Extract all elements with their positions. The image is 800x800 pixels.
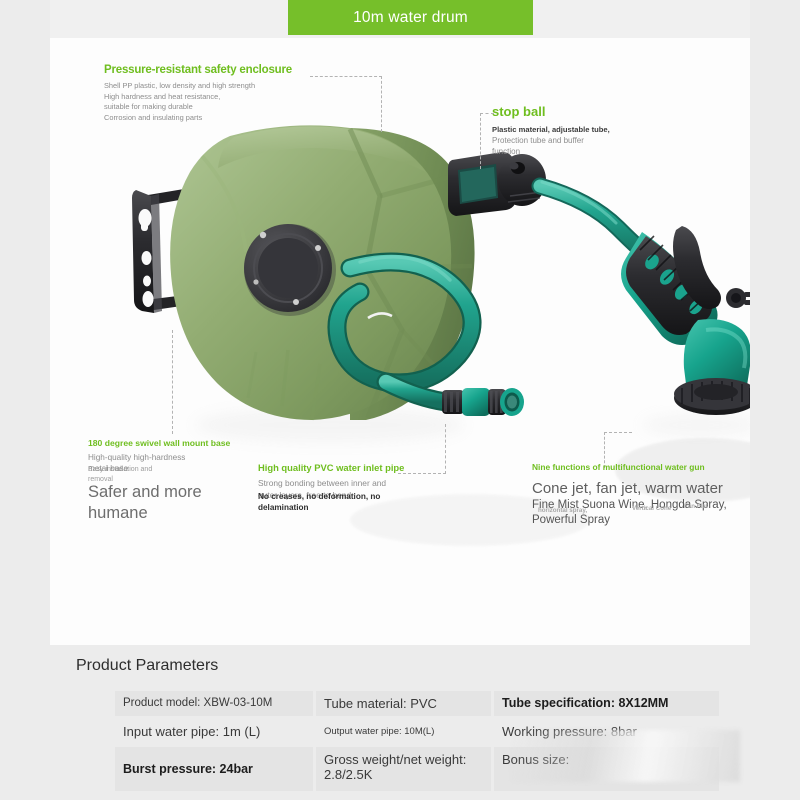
annotation-headline-wall-base: Safer and more humane [88, 482, 268, 524]
hose-watermark-overlay [510, 730, 740, 782]
annotation-title-water-gun: Nine functions of multifunctional water … [532, 462, 762, 472]
wall-base-headline-2: humane [88, 503, 268, 524]
gun-faint-label-horizontal-spray: horizontal spray, [538, 507, 587, 514]
enclosure-line-3: suitable for making durable [104, 102, 292, 113]
param-tube-specification: Tube specification: 8X12MM [494, 691, 719, 716]
banner-title: 10m water drum [353, 9, 468, 27]
product-infographic-page: 10m water drum [0, 0, 800, 800]
annotation-overlay-pvc: No creases, no deformation, no delaminat… [258, 492, 380, 513]
param-input-water-pipe: Input water pipe: 1m (L) [115, 719, 313, 744]
stop-ball-line-1: Plastic material, adjustable tube, [492, 124, 610, 135]
leader-base-vertical [172, 330, 173, 434]
leader-enclosure-vertical [381, 76, 382, 132]
trigger-lock-knob[interactable] [726, 288, 750, 308]
enclosure-line-2: High hardness and heat resistance, [104, 92, 292, 103]
param-burst-pressure: Burst pressure: 24bar [115, 747, 313, 791]
pvc-overlay-2: delamination [258, 503, 380, 514]
reel-hub [244, 224, 336, 316]
annotation-title-pvc: High quality PVC water inlet pipe [258, 462, 458, 473]
annotation-headline-water-gun: Cone jet, fan jet, warm water [532, 479, 762, 498]
multifunction-spray-gun [615, 226, 750, 502]
enclosure-line-1: Shell PP plastic, low density and high s… [104, 81, 292, 92]
param-tube-material: Tube material: PVC [316, 691, 491, 716]
annotation-pressure-resistant-enclosure: Pressure-resistant safety enclosure Shel… [104, 64, 292, 123]
wall-base-headline-1: Safer and more [88, 482, 268, 503]
annotation-stop-ball: stop ball Plastic material, adjustable t… [492, 104, 610, 157]
stop-ball-line-3: function [492, 146, 610, 157]
annotation-ghost-wall-base: Easy installation and removal [88, 465, 152, 484]
param-gross-net-weight: Gross weight/net weight: 2.8/2.5K [316, 747, 491, 791]
annotation-body-stop-ball: Plastic material, adjustable tube, Prote… [492, 124, 610, 157]
hose-outlet-guide [448, 152, 546, 216]
gun-faint-label-vertical-cone: Vertical Cone [632, 505, 671, 512]
leader-enclosure-horizontal [310, 76, 382, 77]
hose-quick-connector [442, 388, 524, 416]
stop-ball-line-2: Protection tube and buffer [492, 135, 610, 146]
product-title-banner: 10m water drum [288, 0, 533, 35]
wall-base-ghost-1: Easy installation and [88, 465, 152, 475]
leader-stopball-vertical [480, 113, 481, 169]
enclosure-line-4: Corrosion and insulating parts [104, 113, 292, 124]
pvc-line-1: Strong bonding between inner and [258, 478, 458, 490]
gun-faint-label-fan-flat: Fan Flat [684, 503, 708, 510]
annotation-wall-mount-base: 180 degree swivel wall mount base High-q… [88, 438, 268, 524]
annotation-water-gun-functions: Nine functions of multifunctional water … [532, 462, 762, 528]
param-output-water-pipe: Output water pipe: 10M(L) [316, 719, 491, 744]
annotation-title-enclosure: Pressure-resistant safety enclosure [104, 64, 292, 76]
wall-base-ghost-2: removal [88, 475, 152, 485]
annotation-title-wall-base: 180 degree swivel wall mount base [88, 438, 268, 448]
gun-line-2: Powerful Spray [532, 513, 762, 528]
nozzle-selector-dial[interactable] [674, 378, 750, 415]
annotation-title-stop-ball: stop ball [492, 104, 610, 119]
annotation-pvc-inlet-pipe: High quality PVC water inlet pipe Strong… [258, 462, 458, 501]
param-product-model: Product model: XBW-03-10M [115, 691, 313, 716]
table-row: Product model: XBW-03-10M Tube material:… [115, 691, 719, 716]
product-parameters-heading: Product Parameters [76, 657, 218, 675]
leader-gun-horizontal [604, 432, 632, 433]
wall-base-line-1: High-quality high-hardness [88, 452, 268, 463]
pvc-overlay-1: No creases, no deformation, no [258, 492, 380, 503]
annotation-body-enclosure: Shell PP plastic, low density and high s… [104, 81, 292, 123]
